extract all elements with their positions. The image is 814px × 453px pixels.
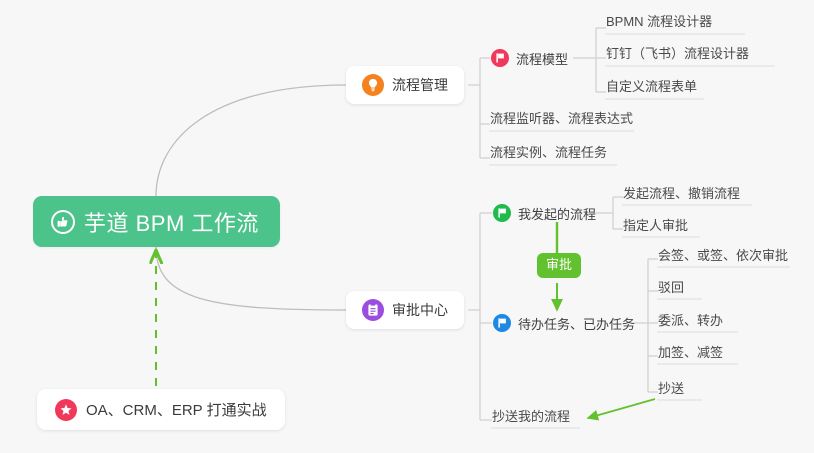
topic-my-started-process[interactable]: 我发起的流程 [493, 200, 596, 226]
branch-approval-center[interactable]: 审批中心 [346, 291, 464, 329]
topic-todo-done-tasks[interactable]: 待办任务、已办任务 [493, 310, 635, 336]
star-icon [55, 399, 77, 421]
leaf-node[interactable]: 钉钉（飞书）流程设计器 [606, 45, 749, 69]
leaf-node[interactable]: 委派、转办 [658, 312, 723, 336]
branch-process-management[interactable]: 流程管理 [346, 66, 464, 104]
lightbulb-icon [362, 74, 384, 96]
leaf-node[interactable]: 抄送 [658, 380, 684, 404]
topic-label: 我发起的流程 [518, 204, 596, 223]
leaf-node[interactable]: 加签、减签 [658, 344, 723, 368]
mindmap-canvas: 芋道 BPM 工作流 流程管理 审批中心 [0, 0, 814, 453]
leaf-node-cc-my-process[interactable]: 抄送我的流程 [492, 408, 570, 432]
leaf-node[interactable]: 流程监听器、流程表达式 [490, 110, 633, 134]
flag-icon [493, 204, 511, 222]
clipboard-icon [362, 299, 384, 321]
leaf-node[interactable]: 自定义流程表单 [606, 78, 697, 102]
callout-integration-practice[interactable]: OA、CRM、ERP 打通实战 [37, 389, 285, 430]
leaf-node[interactable]: 发起流程、撤销流程 [623, 185, 740, 209]
thumbs-up-icon [51, 210, 75, 234]
branch-label: 流程管理 [392, 75, 448, 95]
annotation-tag-approve[interactable]: 审批 [537, 253, 581, 278]
leaf-node[interactable]: 驳回 [658, 279, 684, 303]
flag-icon [493, 314, 511, 332]
leaf-node[interactable]: 指定人审批 [623, 217, 688, 241]
leaf-node[interactable]: BPMN 流程设计器 [606, 13, 712, 37]
leaf-node[interactable]: 流程实例、流程任务 [490, 144, 607, 168]
callout-label: OA、CRM、ERP 打通实战 [86, 399, 267, 420]
topic-label: 流程模型 [516, 49, 568, 68]
leaf-node[interactable]: 会签、或签、依次审批 [658, 247, 788, 271]
topic-label: 待办任务、已办任务 [518, 314, 635, 333]
topic-process-model[interactable]: 流程模型 [491, 45, 568, 71]
root-label: 芋道 BPM 工作流 [84, 206, 259, 238]
flag-icon [491, 49, 509, 67]
branch-label: 审批中心 [392, 300, 448, 320]
root-node[interactable]: 芋道 BPM 工作流 [33, 196, 280, 247]
